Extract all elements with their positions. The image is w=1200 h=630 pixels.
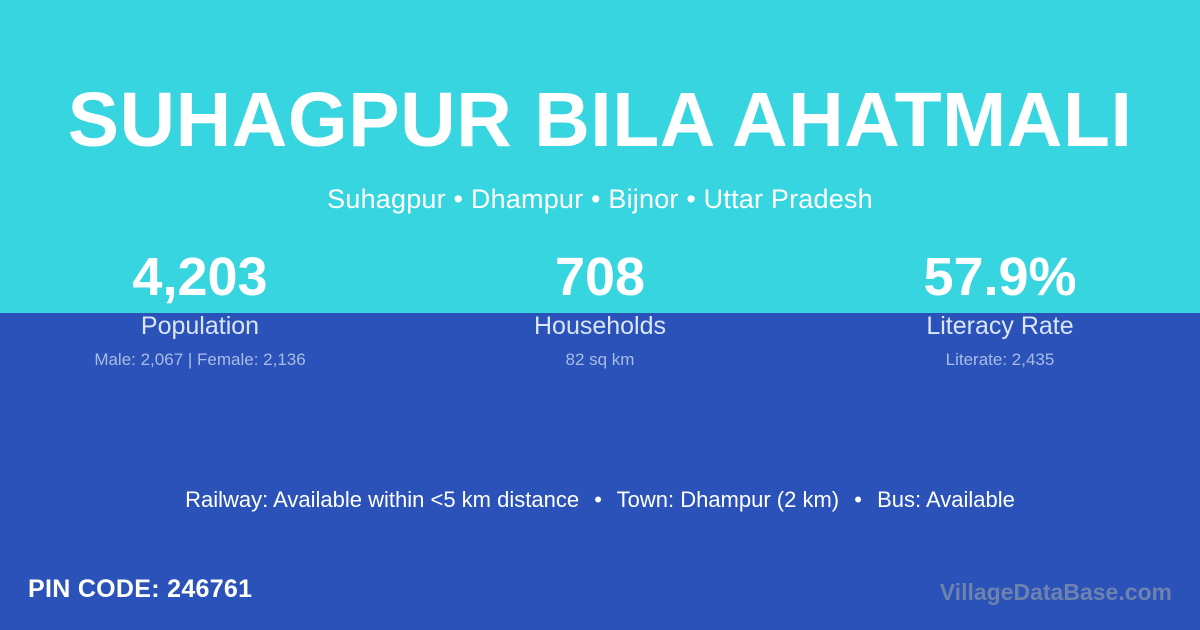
stat-sub-households: 82 sq km (400, 350, 800, 370)
breadcrumb: Suhagpur • Dhampur • Bijnor • Uttar Prad… (0, 182, 1200, 216)
page-title: SUHAGPUR BILA AHATMALI (0, 77, 1200, 163)
facility-separator-2: • (845, 486, 871, 514)
facility-nearest-town: Town: Dhampur (2 km) (617, 487, 840, 512)
facility-railway: Railway: Available within <5 km distance (185, 487, 579, 512)
stat-sub-literacy-rate: Literate: 2,435 (800, 350, 1200, 370)
stat-card-population: 4,203 Population Male: 2,067 | Female: 2… (0, 246, 400, 370)
stat-label-literacy-rate: Literacy Rate (800, 312, 1200, 341)
stat-card-literacy-rate: 57.9% Literacy Rate Literate: 2,435 (800, 246, 1200, 370)
stats-row: 4,203 Population Male: 2,067 | Female: 2… (0, 246, 1200, 370)
stat-value-households: 708 (400, 246, 800, 308)
pin-code-label: PIN CODE: 246761 (28, 573, 252, 605)
stat-value-literacy-rate: 57.9% (800, 246, 1200, 308)
facility-separator-1: • (585, 486, 611, 514)
village-info-card: SUHAGPUR BILA AHATMALI Suhagpur • Dhampu… (0, 0, 1200, 630)
stat-value-population: 4,203 (0, 246, 400, 308)
card-footer: PIN CODE: 246761 VillageDataBase.com (0, 573, 1200, 618)
brand-watermark: VillageDataBase.com (940, 578, 1172, 606)
stat-card-households: 708 Households 82 sq km (400, 246, 800, 370)
stat-label-population: Population (0, 312, 400, 341)
facility-bus: Bus: Available (877, 487, 1015, 512)
stat-sub-population: Male: 2,067 | Female: 2,136 (0, 350, 400, 370)
facilities-line: Railway: Available within <5 km distance… (0, 486, 1200, 514)
stat-label-households: Households (400, 312, 800, 341)
